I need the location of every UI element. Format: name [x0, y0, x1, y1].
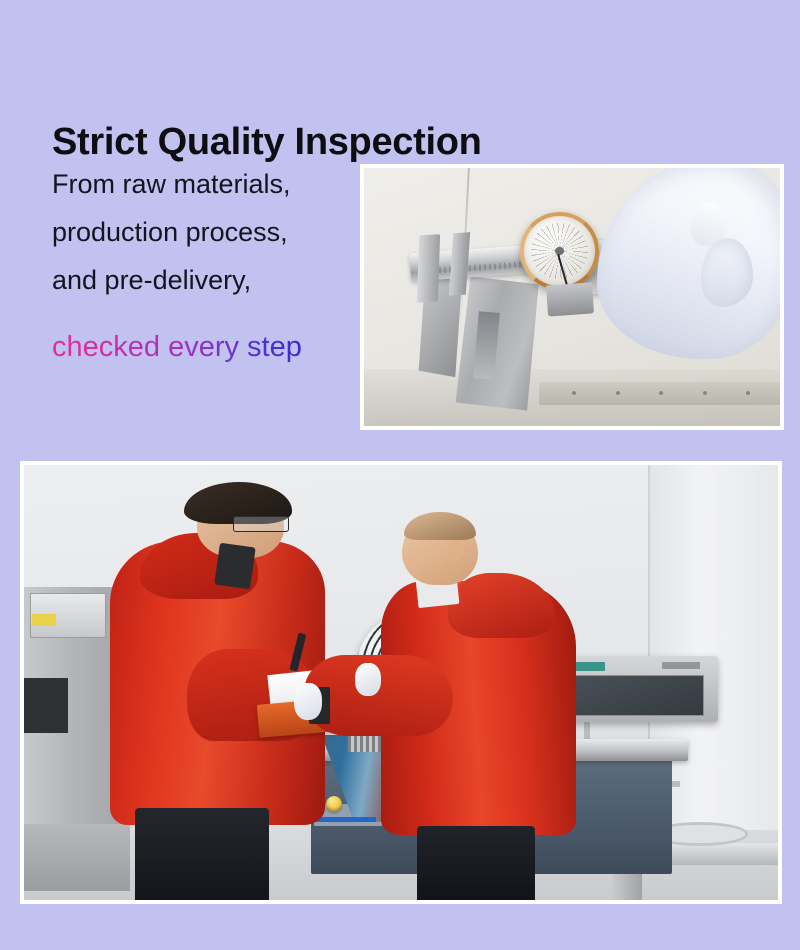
hmi-model-text [662, 662, 700, 669]
caliper-photo-frame [360, 164, 784, 430]
yellow-warning-label [32, 614, 55, 626]
caliper-photo [364, 168, 780, 426]
metal-strip [539, 381, 780, 405]
worker-right-glove-right [355, 663, 381, 696]
body-copy: From raw materials, production process, … [52, 160, 352, 304]
body-line-2: production process, [52, 208, 352, 256]
body-line-1: From raw materials, [52, 160, 352, 208]
worker-right [371, 491, 627, 900]
caliper-jaw-upper [417, 234, 440, 303]
worker-left-collar [215, 543, 256, 589]
page-title: Strict Quality Inspection [52, 121, 482, 164]
factory-photo [24, 465, 778, 900]
worker-right-scalp [404, 512, 476, 541]
factory-photo-frame [20, 461, 782, 904]
worker-left-glasses [233, 516, 289, 532]
dial-stem [546, 283, 594, 317]
glove-thumb [701, 238, 753, 306]
worker-right-ear [448, 540, 463, 560]
machine-dark-window [24, 678, 68, 733]
worker-right-trousers [417, 826, 535, 900]
tagline-gradient-text: checked every step [52, 328, 302, 366]
body-line-3: and pre-delivery, [52, 256, 352, 304]
worker-right-glove-left [294, 683, 322, 720]
worker-right-hood [448, 573, 556, 638]
dial-hub [555, 246, 564, 255]
worker-left-trousers [135, 808, 268, 900]
